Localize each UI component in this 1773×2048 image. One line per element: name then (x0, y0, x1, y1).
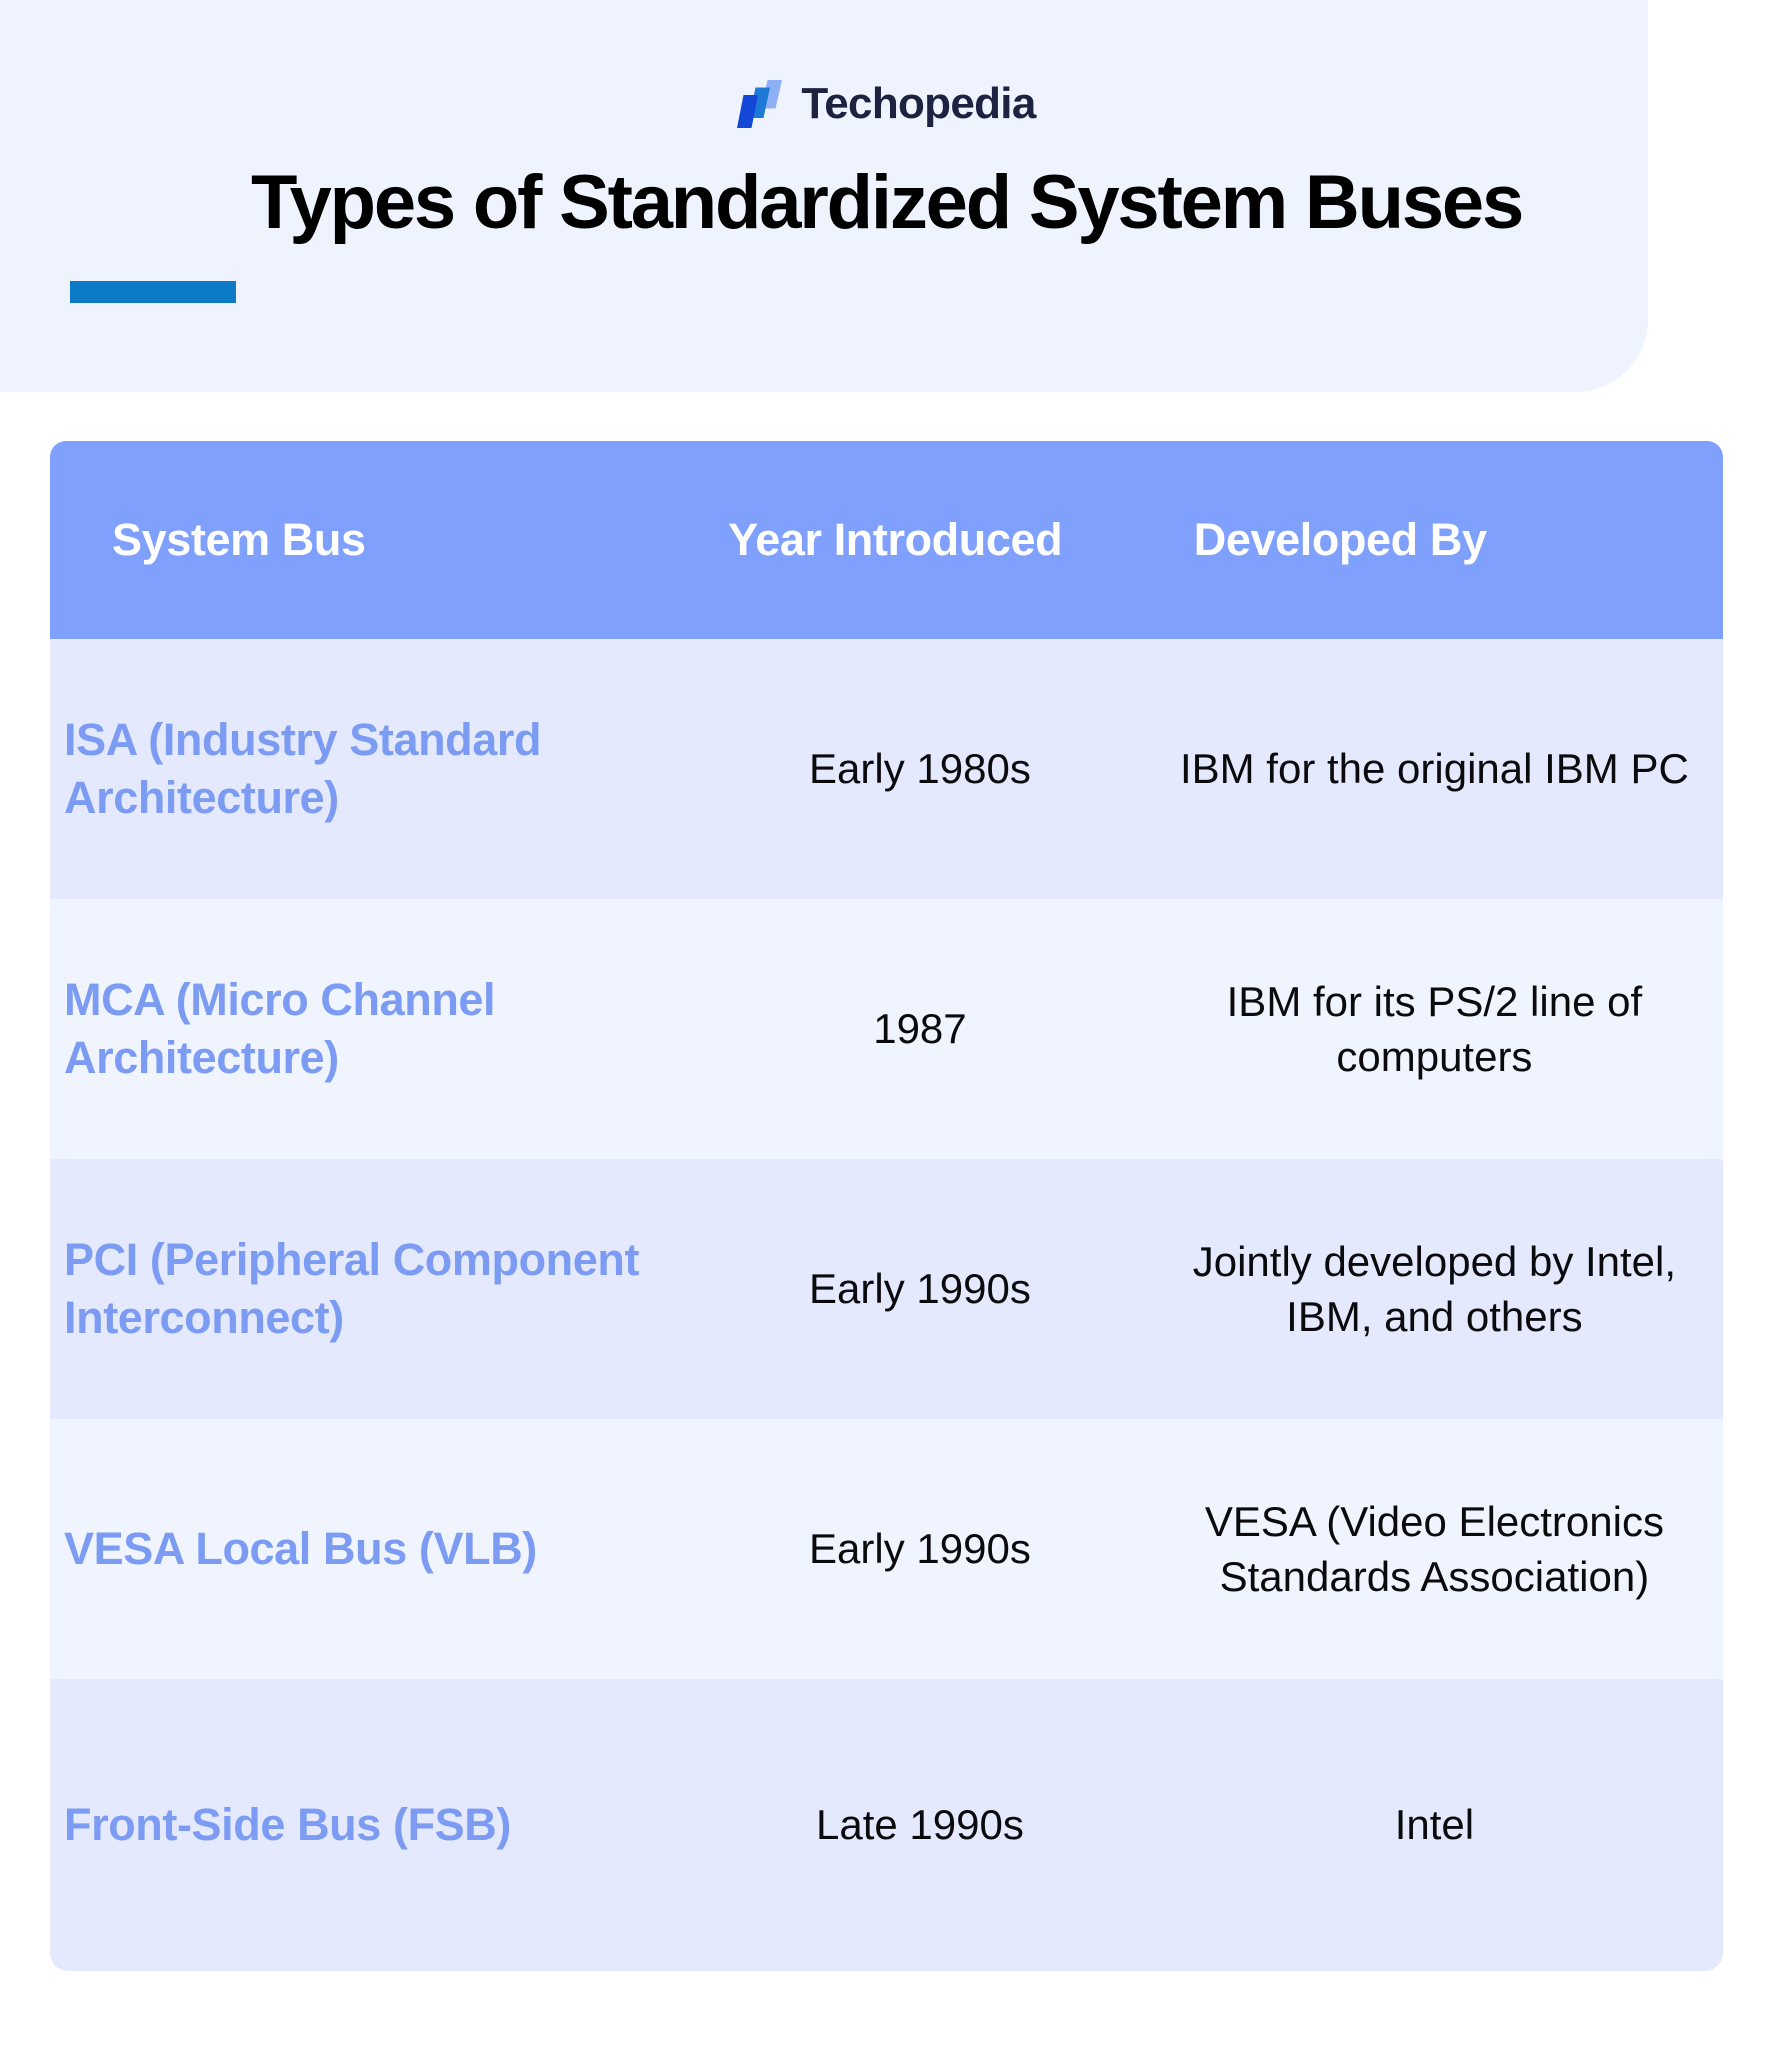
table-row: ISA (Industry Standard Architecture) Ear… (50, 639, 1723, 899)
table-header: System Bus Year Introduced Developed By (50, 441, 1723, 639)
cell-year: Early 1990s (694, 1159, 1146, 1419)
cell-developed-by: VESA (Video Electronics Standards Associ… (1146, 1419, 1723, 1679)
standardized-system-buses-table: System Bus Year Introduced Developed By … (50, 441, 1723, 1971)
cell-developed-by: Jointly developed by Intel, IBM, and oth… (1146, 1159, 1723, 1419)
cell-system-bus: MCA (Micro Channel Architecture) (50, 899, 694, 1159)
table-row: VESA Local Bus (VLB) Early 1990s VESA (V… (50, 1419, 1723, 1679)
table-row: Front-Side Bus (FSB) Late 1990s Intel (50, 1679, 1723, 1971)
table-row: PCI (Peripheral Component Interconnect) … (50, 1159, 1723, 1419)
infographic-page: Techopedia Types of Standardized System … (0, 0, 1773, 2048)
cell-year: Early 1980s (694, 639, 1146, 899)
table-header-row: System Bus Year Introduced Developed By (50, 441, 1723, 639)
cell-year: 1987 (694, 899, 1146, 1159)
cell-system-bus: Front-Side Bus (FSB) (50, 1679, 694, 1971)
techopedia-logo-icon (737, 78, 783, 130)
bus-table-container: System Bus Year Introduced Developed By … (50, 441, 1723, 1971)
brand-name: Techopedia (801, 82, 1035, 126)
cell-system-bus: PCI (Peripheral Component Interconnect) (50, 1159, 694, 1419)
cell-developed-by: IBM for its PS/2 line of computers (1146, 899, 1723, 1159)
page-title: Types of Standardized System Buses (0, 165, 1773, 241)
cell-year: Early 1990s (694, 1419, 1146, 1679)
title-accent-rule (70, 281, 236, 303)
column-header-system-bus: System Bus (50, 441, 694, 639)
column-header-year-introduced: Year Introduced (694, 441, 1146, 639)
cell-developed-by: Intel (1146, 1679, 1723, 1971)
table-body: ISA (Industry Standard Architecture) Ear… (50, 639, 1723, 1971)
column-header-developed-by: Developed By (1146, 441, 1723, 639)
cell-system-bus: VESA Local Bus (VLB) (50, 1419, 694, 1679)
brand-lockup: Techopedia (0, 78, 1773, 130)
cell-developed-by: IBM for the original IBM PC (1146, 639, 1723, 899)
cell-year: Late 1990s (694, 1679, 1146, 1971)
cell-system-bus: ISA (Industry Standard Architecture) (50, 639, 694, 899)
table-row: MCA (Micro Channel Architecture) 1987 IB… (50, 899, 1723, 1159)
